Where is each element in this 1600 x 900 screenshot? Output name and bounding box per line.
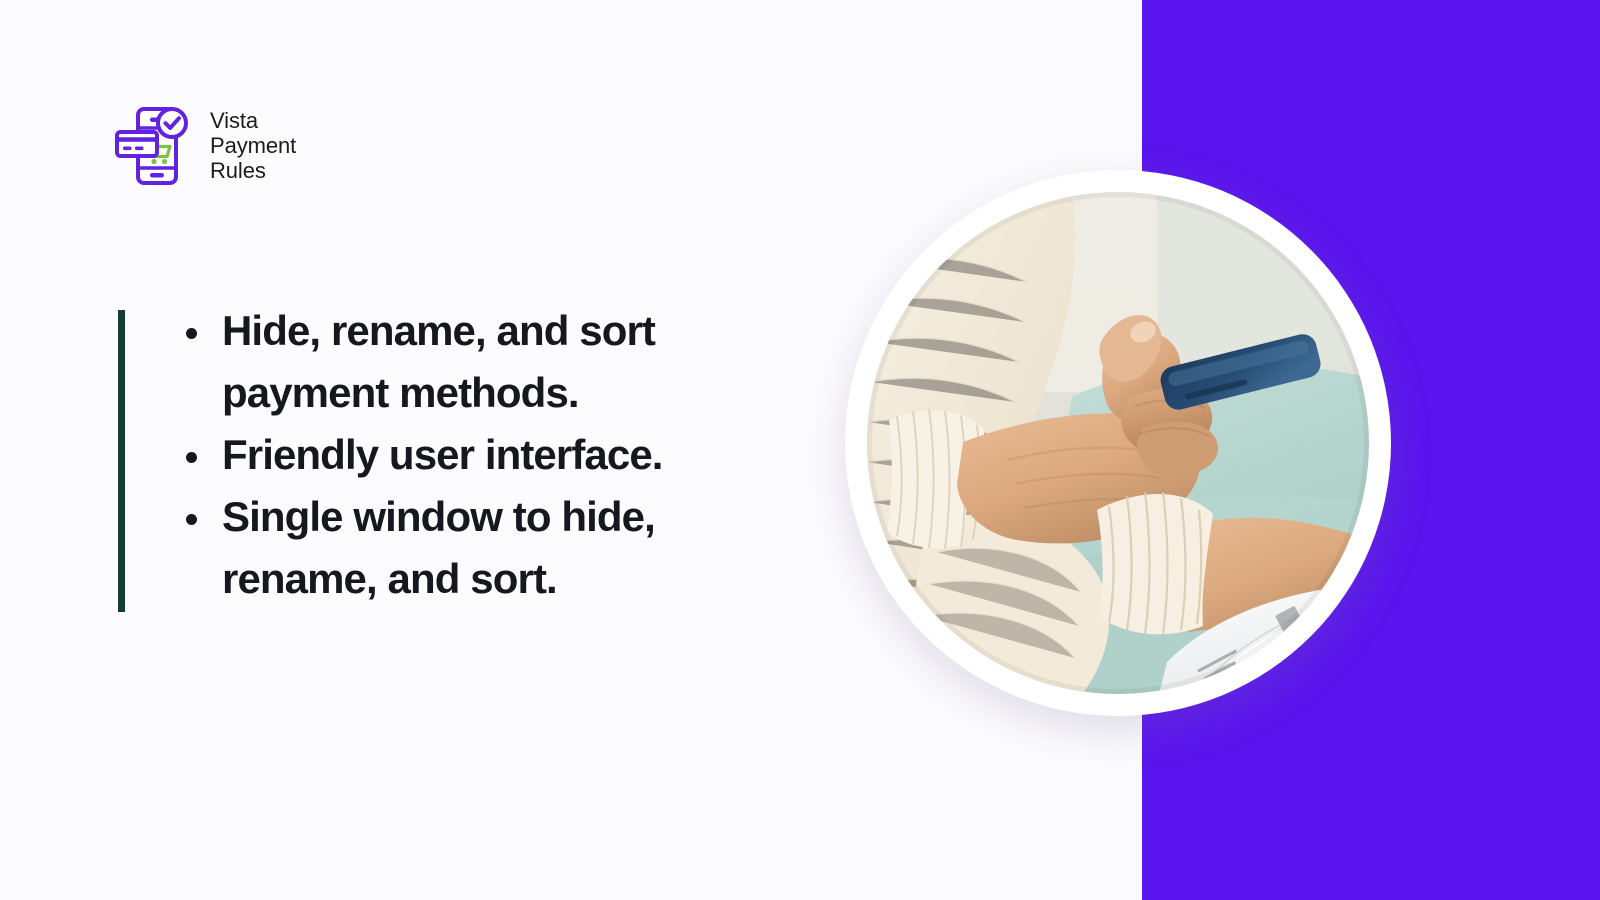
list-item: Friendly user interface. (182, 424, 782, 486)
list-item: Single window to hide, rename, and sort. (182, 486, 782, 610)
feature-text: Friendly user interface. (222, 431, 663, 478)
list-item: Hide, rename, and sort payment methods. (182, 300, 782, 424)
brand-logo-text: Vista Payment Rules (210, 104, 296, 183)
feature-text: Hide, rename, and sort payment methods. (222, 307, 655, 416)
brand-logo[interactable]: Vista Payment Rules (112, 104, 296, 188)
slide-canvas: Vista Payment Rules Hide, rename, and so… (0, 0, 1600, 900)
circular-photo-frame (845, 170, 1391, 716)
accent-bar (118, 310, 125, 612)
feature-text: Single window to hide, rename, and sort. (222, 493, 655, 602)
feature-list: Hide, rename, and sort payment methods. … (182, 300, 782, 610)
photo-image (867, 192, 1369, 694)
mobile-payment-logo-icon (112, 104, 196, 188)
